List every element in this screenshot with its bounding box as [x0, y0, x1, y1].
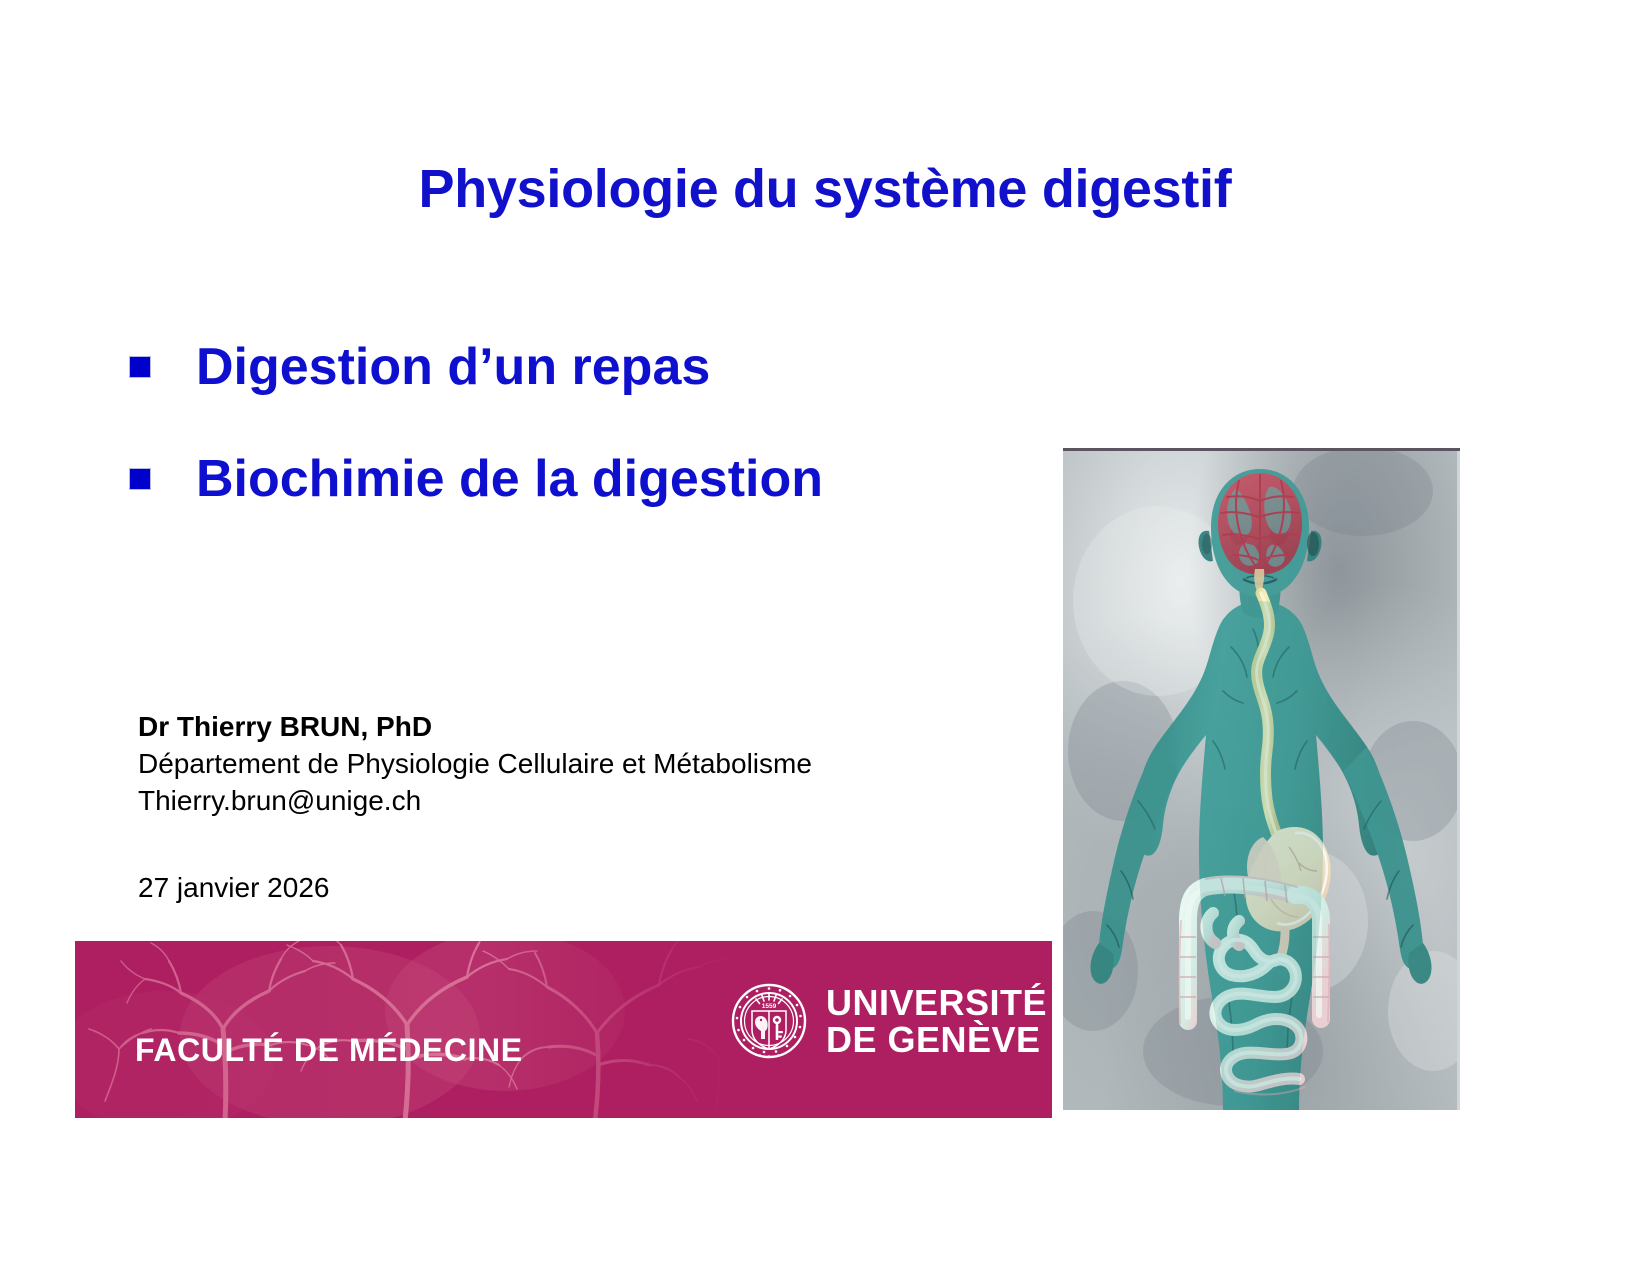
- author-department: Département de Physiologie Cellulaire et…: [138, 745, 1038, 782]
- square-bullet-icon: [130, 357, 150, 377]
- author-block: Dr Thierry BRUN, PhD Département de Phys…: [138, 708, 1038, 820]
- unige-line-universite: UNIVERSITÉ: [826, 984, 1047, 1021]
- bullet-item-biochimie: Biochimie de la digestion: [130, 452, 823, 507]
- bullet-item-label: Biochimie de la digestion: [196, 452, 823, 507]
- page-title: Physiologie du système digestif: [0, 158, 1650, 220]
- author-name: Dr Thierry BRUN, PhD: [138, 708, 1038, 745]
- unige-wordmark: UNIVERSITÉ DE GENÈVE: [826, 984, 1047, 1059]
- unige-logo: 1559: [730, 982, 1047, 1060]
- faculty-label: FACULTÉ DE MÉDECINE: [135, 1032, 523, 1069]
- square-bullet-icon: [130, 469, 150, 489]
- digestive-system-image: [1063, 448, 1460, 1110]
- dendrite-pattern-icon: [75, 941, 735, 1118]
- bullet-item-label: Digestion d’un repas: [196, 340, 710, 395]
- presentation-slide: Physiologie du système digestif Digestio…: [0, 0, 1650, 1275]
- lecture-date: 27 janvier 2026: [138, 872, 329, 904]
- unige-line-de-geneve: DE GENÈVE: [826, 1021, 1047, 1058]
- faculty-footer-banner: FACULTÉ DE MÉDECINE: [75, 941, 1052, 1118]
- svg-text:1559: 1559: [762, 1003, 777, 1010]
- author-email: Thierry.brun@unige.ch: [138, 782, 1038, 819]
- bullet-item-digestion: Digestion d’un repas: [130, 340, 710, 395]
- unige-seal-icon: 1559: [730, 982, 808, 1060]
